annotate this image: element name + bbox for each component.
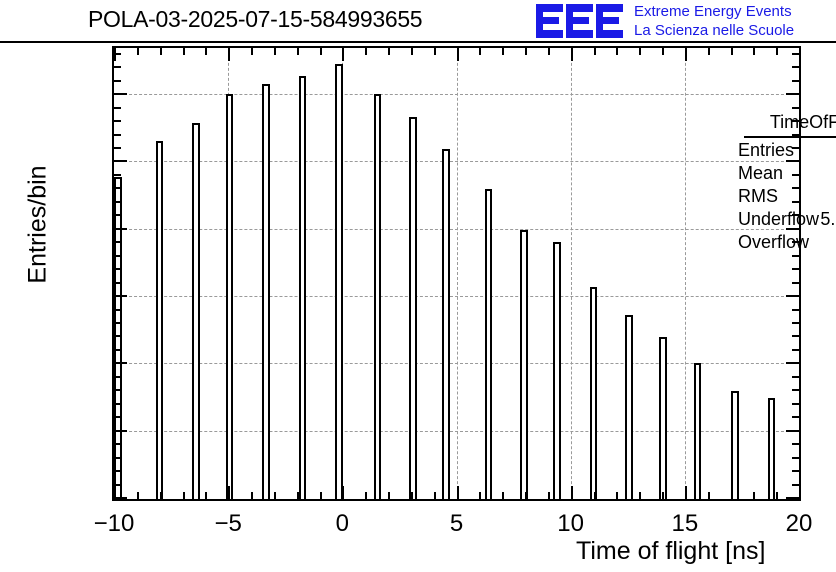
histogram-bar xyxy=(374,94,382,499)
stats-row: Overflow3882 xyxy=(726,232,836,255)
x-axis-tick xyxy=(776,492,778,499)
y-axis-tick xyxy=(792,416,799,418)
histogram-bar xyxy=(590,287,598,499)
histogram-bar xyxy=(226,94,234,499)
x-axis-tick xyxy=(388,492,390,499)
y-axis-tick xyxy=(792,282,799,284)
x-axis-tick xyxy=(297,48,299,55)
x-axis-tick xyxy=(548,48,550,55)
y-axis-label: Entries/bin xyxy=(24,95,53,355)
x-axis-tick xyxy=(411,48,413,55)
x-axis-tick xyxy=(114,486,116,499)
y-axis-tick xyxy=(792,80,799,82)
histogram-bar xyxy=(520,230,528,499)
x-axis-tick xyxy=(479,48,481,55)
eee-logo-letters xyxy=(536,4,623,38)
histogram-bar xyxy=(114,177,122,499)
x-axis-tick xyxy=(776,48,778,55)
y-axis-tick xyxy=(114,120,121,122)
stats-row-value: 5.567e+04 xyxy=(820,209,836,230)
histogram-bar xyxy=(299,76,307,499)
y-axis-tick xyxy=(114,362,127,364)
x-axis-tick xyxy=(708,48,710,55)
histogram-bar xyxy=(553,242,561,499)
x-axis-tick xyxy=(571,486,573,499)
x-axis-tick xyxy=(548,492,550,499)
x-axis-tick xyxy=(479,492,481,499)
logo-letter-e-1 xyxy=(536,4,563,38)
stats-row: Underflow5.567e+04 xyxy=(726,209,836,232)
stats-row: Entries61192 xyxy=(726,140,836,163)
y-axis-tick xyxy=(114,66,121,68)
y-axis-tick xyxy=(786,362,799,364)
y-axis-tick xyxy=(114,389,121,391)
x-axis-tick xyxy=(731,492,733,499)
x-axis-tick xyxy=(594,48,596,55)
x-axis-tick xyxy=(205,492,207,499)
x-axis-tick-label: −5 xyxy=(214,510,241,538)
x-axis-tick xyxy=(297,492,299,499)
y-axis-tick xyxy=(792,470,799,472)
x-axis-tick xyxy=(571,48,573,61)
y-axis-tick xyxy=(114,282,121,284)
y-axis-tick xyxy=(786,93,799,95)
y-axis-tick xyxy=(114,295,127,297)
x-axis-tick-label: 0 xyxy=(336,510,349,538)
x-axis-tick xyxy=(502,48,504,55)
x-axis-tick xyxy=(708,492,710,499)
x-axis-tick xyxy=(388,48,390,55)
x-axis-tick-label: 20 xyxy=(786,510,813,538)
y-axis-tick xyxy=(114,201,121,203)
x-axis-tick xyxy=(274,492,276,499)
x-axis-tick xyxy=(525,48,527,55)
gridline-vertical xyxy=(571,48,572,499)
y-axis-tick xyxy=(792,403,799,405)
y-axis-tick xyxy=(114,214,121,216)
y-axis-tick xyxy=(792,389,799,391)
x-axis-tick xyxy=(662,48,664,55)
x-axis-tick xyxy=(411,492,413,499)
stats-row-key: Mean xyxy=(738,163,783,184)
x-axis-tick xyxy=(731,48,733,55)
stats-row: RMS7.419 xyxy=(726,186,836,209)
y-axis-tick xyxy=(114,228,127,230)
x-axis-tick xyxy=(183,48,185,55)
x-axis-tick xyxy=(799,48,801,61)
histogram-bar xyxy=(485,189,493,499)
x-axis-tick xyxy=(342,48,344,61)
histogram-bar xyxy=(335,64,343,499)
y-axis-tick xyxy=(792,66,799,68)
y-axis-tick xyxy=(114,416,121,418)
x-axis-tick xyxy=(160,492,162,499)
x-axis-tick xyxy=(183,492,185,499)
y-axis-tick xyxy=(792,268,799,270)
x-axis-tick xyxy=(365,48,367,55)
x-axis-tick xyxy=(137,48,139,55)
y-axis-tick xyxy=(114,470,121,472)
y-axis-tick xyxy=(114,376,121,378)
x-axis-tick xyxy=(457,486,459,499)
histogram-bar xyxy=(156,141,164,499)
x-axis-tick-label: 5 xyxy=(450,510,463,538)
stats-title-underline xyxy=(744,136,836,138)
x-axis-tick xyxy=(320,492,322,499)
x-axis-tick-label: −10 xyxy=(94,510,135,538)
x-axis-tick xyxy=(594,492,596,499)
y-axis-tick xyxy=(114,430,127,432)
histogram-bar xyxy=(694,363,702,499)
y-axis-tick xyxy=(114,187,121,189)
stats-row-key: RMS xyxy=(738,186,778,207)
y-axis-tick xyxy=(792,484,799,486)
y-axis-tick xyxy=(792,309,799,311)
y-axis-tick xyxy=(114,255,121,257)
histogram-bar xyxy=(768,398,776,499)
y-axis-tick xyxy=(114,457,121,459)
y-axis-tick xyxy=(114,107,121,109)
y-axis-tick xyxy=(114,160,127,162)
x-axis-tick xyxy=(502,492,504,499)
y-axis-tick xyxy=(114,241,121,243)
x-axis-tick xyxy=(251,492,253,499)
logo-letter-e-3 xyxy=(596,4,623,38)
x-axis-tick xyxy=(160,48,162,55)
x-axis-tick xyxy=(228,486,230,499)
y-axis-tick xyxy=(114,268,121,270)
root-canvas: POLA-03-2025-07-15-584993655 Extreme Ene… xyxy=(0,0,836,572)
x-axis-tick xyxy=(616,48,618,55)
stats-row: Mean1.901 xyxy=(726,163,836,186)
x-axis-tick xyxy=(228,48,230,61)
x-axis-tick xyxy=(799,486,801,499)
x-axis-tick xyxy=(434,492,436,499)
gridline-vertical xyxy=(685,48,686,499)
histogram-bar xyxy=(262,84,270,499)
stats-title: TimeOfFlight xyxy=(726,112,836,135)
logo-letter-e-2 xyxy=(566,4,593,38)
stats-rows: Entries61192Mean1.901RMS7.419Underflow5.… xyxy=(726,140,836,255)
histogram-bar xyxy=(731,391,739,499)
y-axis-tick xyxy=(786,430,799,432)
x-axis-tick xyxy=(434,48,436,55)
y-axis-tick xyxy=(786,497,799,499)
x-axis-tick xyxy=(205,48,207,55)
x-axis-tick xyxy=(662,492,664,499)
y-axis-tick xyxy=(114,443,121,445)
y-axis-tick xyxy=(114,174,121,176)
x-axis-tick-label: 10 xyxy=(557,510,584,538)
y-axis-tick xyxy=(114,322,121,324)
x-axis-tick xyxy=(639,48,641,55)
y-axis-tick xyxy=(786,295,799,297)
x-axis-tick xyxy=(342,486,344,499)
page-title: POLA-03-2025-07-15-584993655 xyxy=(88,6,422,33)
y-axis-tick xyxy=(792,443,799,445)
y-axis-tick xyxy=(792,349,799,351)
stats-row-key: Entries xyxy=(738,140,794,161)
gridline-vertical xyxy=(457,48,458,499)
y-axis-tick xyxy=(792,322,799,324)
y-axis-tick xyxy=(114,335,121,337)
x-axis-tick xyxy=(251,48,253,55)
x-axis-tick xyxy=(365,492,367,499)
stats-box: TimeOfFlight Entries61192Mean1.901RMS7.4… xyxy=(726,112,836,255)
eee-logo: Extreme Energy Events La Scienza nelle S… xyxy=(536,2,836,42)
y-axis-tick xyxy=(792,53,799,55)
y-axis-tick xyxy=(792,457,799,459)
stats-row-key: Underflow xyxy=(738,209,819,230)
x-axis-tick xyxy=(753,492,755,499)
histogram-bar xyxy=(442,149,450,499)
x-axis-tick xyxy=(274,48,276,55)
x-axis-tick xyxy=(114,48,116,61)
y-axis-tick xyxy=(114,80,121,82)
y-axis-tick xyxy=(114,403,121,405)
histogram-bar xyxy=(192,123,200,499)
eee-logo-text: Extreme Energy Events La Scienza nelle S… xyxy=(634,2,794,40)
x-axis-tick xyxy=(753,48,755,55)
x-axis-tick xyxy=(137,492,139,499)
histogram-bar xyxy=(409,117,417,499)
y-axis-tick xyxy=(114,134,121,136)
histogram-bar xyxy=(625,315,633,499)
y-axis-tick xyxy=(792,376,799,378)
x-axis-tick xyxy=(685,48,687,61)
header-divider xyxy=(0,41,836,43)
y-axis-tick xyxy=(114,309,121,311)
stats-row-key: Overflow xyxy=(738,232,809,253)
eee-logo-line1: Extreme Energy Events xyxy=(634,2,794,21)
x-axis-tick-label: 15 xyxy=(671,510,698,538)
x-axis-label: Time of flight [ns] xyxy=(576,537,765,566)
y-axis-tick xyxy=(114,147,121,149)
x-axis-tick xyxy=(525,492,527,499)
x-axis-tick xyxy=(685,486,687,499)
x-axis-tick xyxy=(639,492,641,499)
x-axis-tick xyxy=(320,48,322,55)
x-axis-tick xyxy=(457,48,459,61)
y-axis-tick xyxy=(114,349,121,351)
x-axis-tick xyxy=(616,492,618,499)
histogram-plot: 050010001500200025003000−10−505101520 Ti… xyxy=(112,46,801,501)
plot-inner: 050010001500200025003000−10−505101520 xyxy=(114,48,799,499)
eee-logo-line2: La Scienza nelle Scuole xyxy=(634,21,794,40)
y-axis-tick xyxy=(792,107,799,109)
histogram-bar xyxy=(659,337,667,499)
y-axis-tick xyxy=(114,93,127,95)
y-axis-tick xyxy=(792,335,799,337)
